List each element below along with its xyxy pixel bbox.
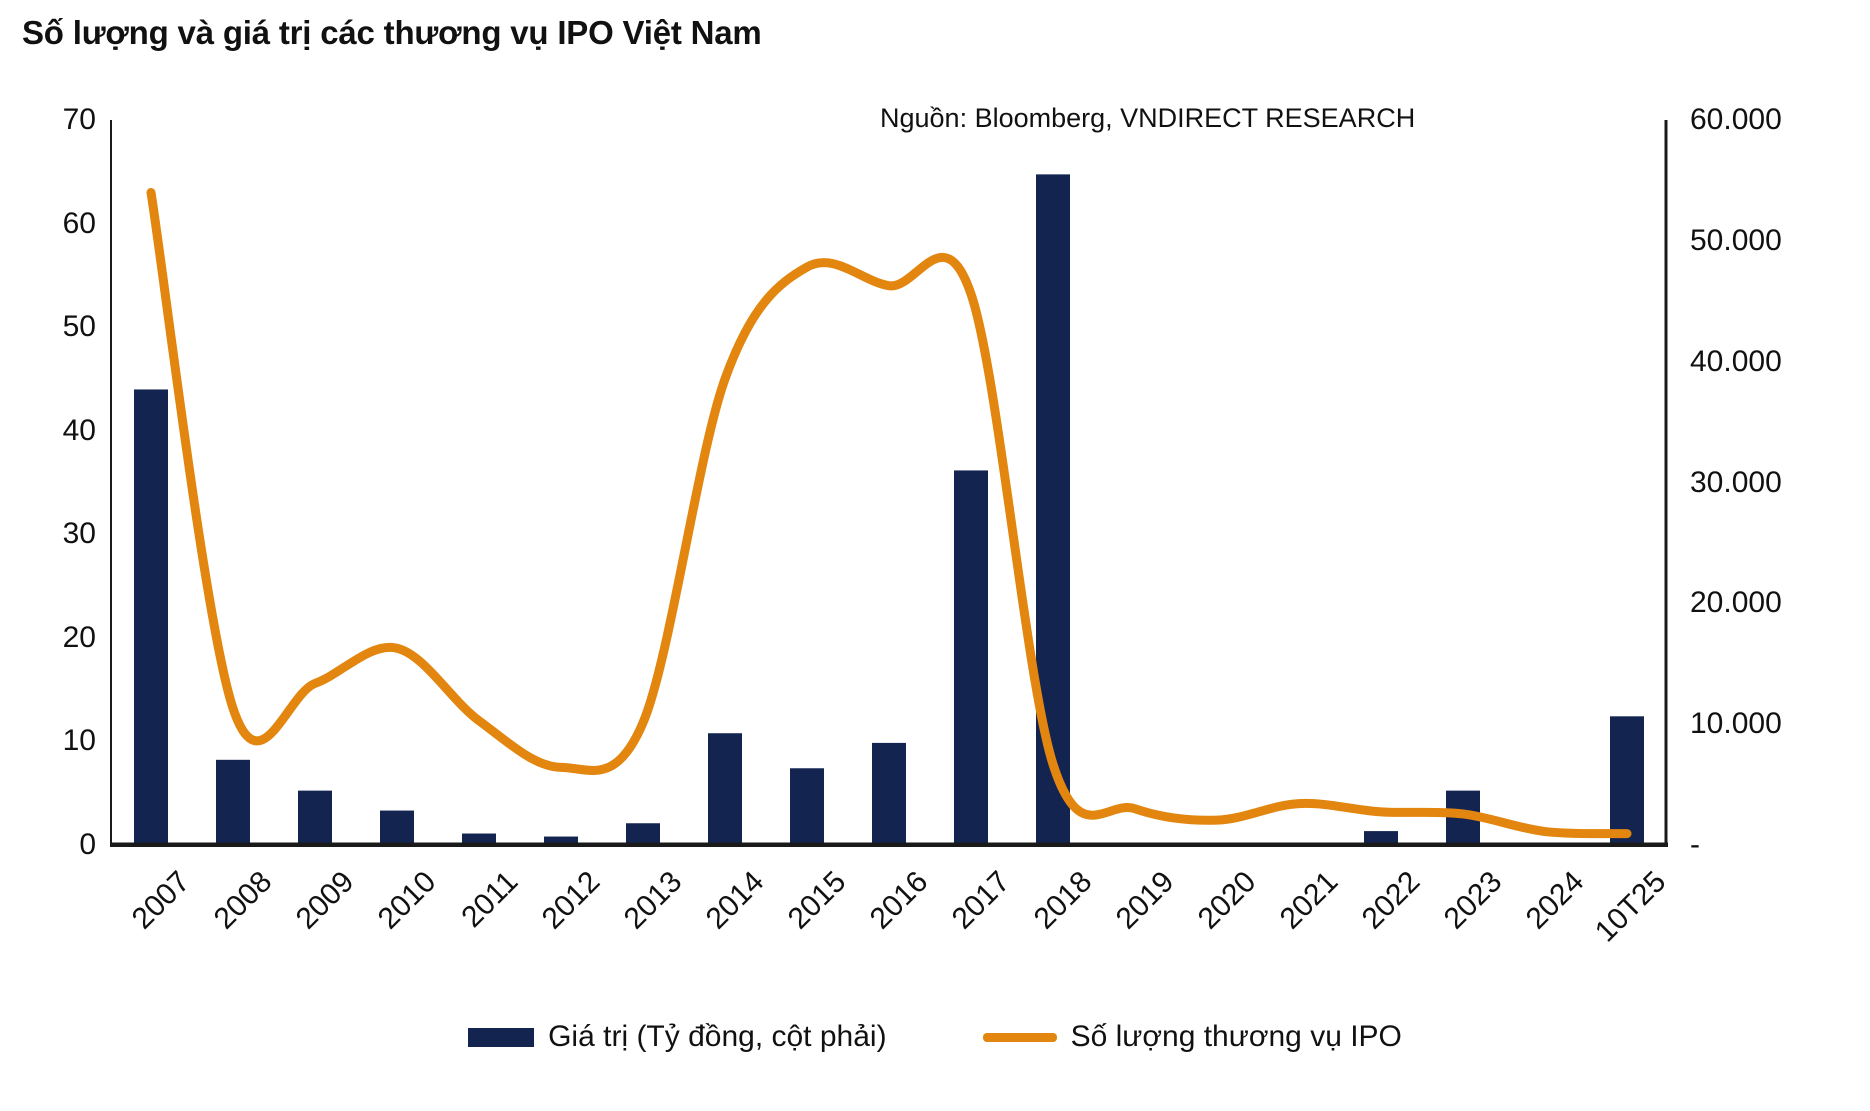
legend: Giá trị (Tỷ đồng, cột phải) Số lượng thư… — [0, 1020, 1870, 1054]
legend-label-value: Giá trị (Tỷ đồng, cột phải) — [548, 1020, 886, 1054]
bar-2013 — [626, 823, 660, 845]
legend-label-count: Số lượng thương vụ IPO — [1071, 1020, 1402, 1054]
chart-svg — [110, 120, 1668, 847]
y-axis-left-label-30: 30 — [63, 517, 96, 551]
x-axis-label-2022: 2022 — [1356, 865, 1427, 936]
y-axis-left-label-10: 10 — [63, 724, 96, 758]
y-axis-right-label-1: 50.000 — [1690, 224, 1782, 258]
legend-item-count[interactable]: Số lượng thương vụ IPO — [983, 1020, 1402, 1054]
bar-series — [134, 174, 1644, 845]
x-axis-label-2023: 2023 — [1438, 865, 1509, 936]
x-axis-label-2010: 2010 — [372, 865, 443, 936]
bar-2007 — [134, 389, 168, 845]
legend-bar-swatch-icon — [468, 1028, 534, 1047]
y-axis-right-label-6: - — [1690, 828, 1700, 862]
x-axis-label-2016: 2016 — [864, 865, 935, 936]
x-axis-label-2012: 2012 — [536, 865, 607, 936]
bar-10T25 — [1610, 716, 1644, 845]
x-axis-label-2018: 2018 — [1028, 865, 1099, 936]
y-axis-left-label-60: 60 — [63, 207, 96, 241]
x-axis-label-2017: 2017 — [946, 865, 1017, 936]
y-axis-left-label-0: 0 — [79, 828, 96, 862]
page-title: Số lượng và giá trị các thương vụ IPO Vi… — [22, 14, 762, 52]
x-axis-label-2020: 2020 — [1192, 865, 1263, 936]
plot-area — [110, 120, 1668, 847]
y-axis-left-label-50: 50 — [63, 310, 96, 344]
x-axis-label-2019: 2019 — [1110, 865, 1181, 936]
bar-2010 — [380, 811, 414, 845]
x-axis-label-2014: 2014 — [700, 865, 771, 936]
chart-page: Số lượng và giá trị các thương vụ IPO Vi… — [0, 0, 1870, 1111]
y-axis-right: 60.00050.00040.00030.00020.00010.000- — [1690, 120, 1865, 847]
y-axis-left: 706050403020100 — [28, 120, 96, 847]
legend-item-value[interactable]: Giá trị (Tỷ đồng, cột phải) — [468, 1020, 886, 1054]
y-axis-left-label-20: 20 — [63, 621, 96, 655]
line-series — [151, 193, 1627, 834]
x-axis-label-2008: 2008 — [208, 865, 279, 936]
x-axis-label-2013: 2013 — [618, 865, 689, 936]
y-axis-left-label-40: 40 — [63, 414, 96, 448]
y-axis-right-label-0: 60.000 — [1690, 103, 1782, 137]
x-axis-label-2011: 2011 — [455, 865, 525, 935]
x-axis-label-2021: 2021 — [1274, 865, 1345, 936]
y-axis-left-label-70: 70 — [63, 103, 96, 137]
bar-2016 — [872, 743, 906, 845]
bar-2014 — [708, 733, 742, 845]
bar-2009 — [298, 791, 332, 845]
bar-2015 — [790, 768, 824, 845]
bar-2008 — [216, 760, 250, 845]
bar-2018 — [1036, 174, 1070, 845]
x-axis-label-10T25: 10T25 — [1589, 865, 1673, 949]
bar-2017 — [954, 470, 988, 845]
x-axis-labels: 2007200820092010201120122013201420152016… — [110, 847, 1668, 987]
x-axis-label-2007: 2007 — [126, 865, 197, 936]
y-axis-right-label-3: 30.000 — [1690, 466, 1782, 500]
y-axis-right-label-5: 10.000 — [1690, 707, 1782, 741]
legend-line-swatch-icon — [983, 1033, 1057, 1042]
x-axis-label-2024: 2024 — [1520, 865, 1591, 936]
y-axis-right-label-4: 20.000 — [1690, 586, 1782, 620]
x-axis-label-2015: 2015 — [782, 865, 853, 936]
x-axis-label-2009: 2009 — [290, 865, 361, 936]
y-axis-right-label-2: 40.000 — [1690, 345, 1782, 379]
